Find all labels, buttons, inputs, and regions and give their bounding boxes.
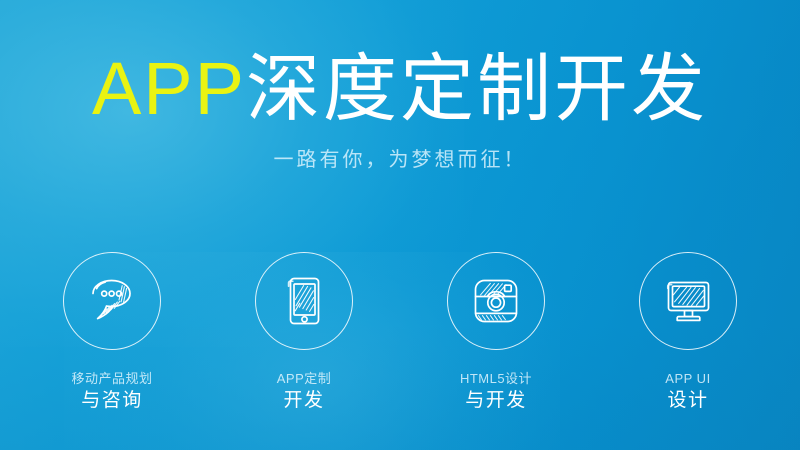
feature-item-html5-design[interactable]: HTML5设计 与开发 <box>400 252 592 412</box>
feature-item-app-ui-design[interactable]: APP UI 设计 <box>592 252 784 412</box>
feature-label-main: 设计 <box>665 391 710 412</box>
icon-circle <box>255 252 353 350</box>
feature-label-top: 移动产品规划 <box>71 372 152 386</box>
feature-item-consulting[interactable]: 移动产品规划 与咨询 <box>16 252 208 412</box>
desktop-monitor-icon <box>657 273 719 329</box>
headline-accent: APP <box>92 47 246 130</box>
icon-circle <box>63 252 161 350</box>
feature-label-top: APP UI <box>665 372 710 386</box>
mobile-phone-icon <box>276 272 332 330</box>
feature-label-main: 开发 <box>277 391 332 412</box>
feature-label-top: APP定制 <box>277 372 332 386</box>
feature-label-top: HTML5设计 <box>460 372 532 386</box>
feature-label-main: 与咨询 <box>71 391 152 412</box>
icon-circle <box>639 252 737 350</box>
feature-labels: APP定制 开发 <box>277 372 332 412</box>
headline: APP深度定制开发 <box>0 52 800 126</box>
feature-item-app-development[interactable]: APP定制 开发 <box>208 252 400 412</box>
feature-labels: HTML5设计 与开发 <box>460 372 532 412</box>
camera-icon <box>466 272 526 330</box>
icon-circle <box>447 252 545 350</box>
promo-banner: APP深度定制开发 一路有你，为梦想而征！ <box>0 0 800 450</box>
feature-list: 移动产品规划 与咨询 <box>0 252 800 412</box>
feature-label-main: 与开发 <box>460 391 532 412</box>
subtitle: 一路有你，为梦想而征！ <box>0 150 800 170</box>
headline-main: 深度定制开发 <box>246 47 708 130</box>
feature-labels: APP UI 设计 <box>665 372 710 412</box>
feature-labels: 移动产品规划 与咨询 <box>71 372 152 412</box>
banner-content: APP深度定制开发 一路有你，为梦想而征！ <box>0 0 800 450</box>
speech-bubble-icon <box>83 273 141 329</box>
